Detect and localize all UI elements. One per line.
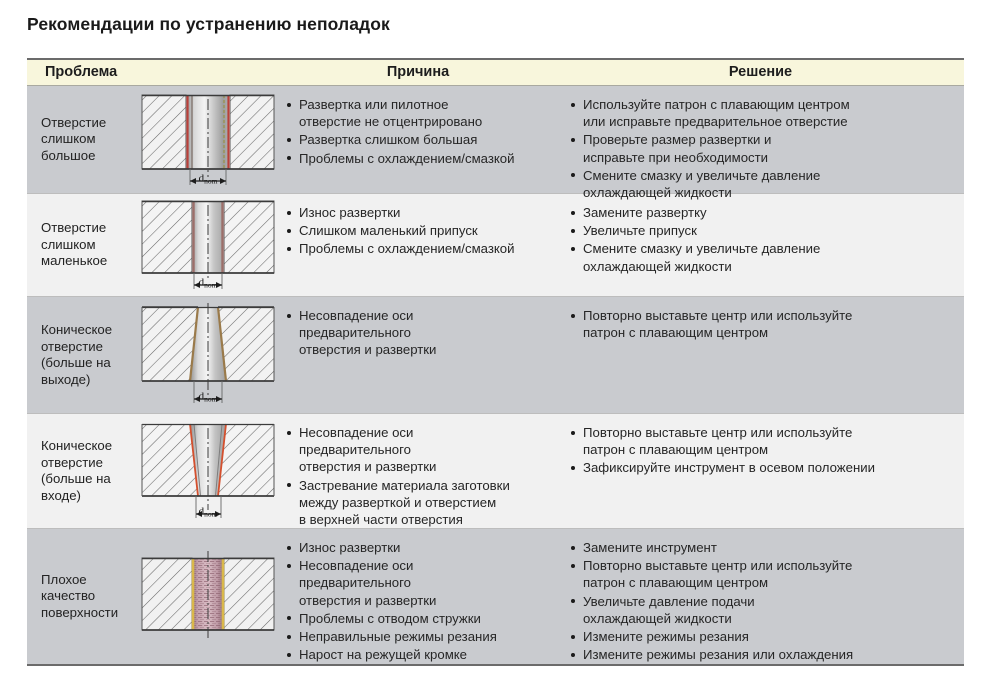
solution-list: Повторно выставьте центр или используйте… <box>569 307 956 341</box>
problem-cell: Коническое отверстие (больше на входе) <box>27 414 137 528</box>
list-item: Проверьте размер развертки иисправьте пр… <box>569 131 956 165</box>
cause-list: Износ развертки Слишком маленький припус… <box>285 204 551 258</box>
list-item: Развертка слишком большая <box>285 131 551 148</box>
solution-list: Замените развертку Увеличьте припуск Сме… <box>569 204 956 275</box>
cause-list: Износ развертки Несовпадение осипредвари… <box>285 539 551 663</box>
problem-label: Отверстие слишком маленькое <box>41 220 107 270</box>
problem-label: Коническое отверстие (больше на входе) <box>41 438 112 504</box>
problem-label: Плохое качество поверхности <box>41 572 118 622</box>
list-item: Износ развертки <box>285 539 551 556</box>
troubleshooting-table: Проблема Причина Решение Отверстие слишк… <box>27 58 964 666</box>
solution-cell: Замените инструмент Повторно выставьте ц… <box>557 529 964 664</box>
page-title: Рекомендации по устранению неполадок <box>27 14 390 35</box>
cause-cell: Износ развертки Несовпадение осипредвари… <box>279 529 557 664</box>
list-item: Измените режимы резания или охлаждения <box>569 646 956 663</box>
problem-cell: Отверстие слишком большое <box>27 86 137 193</box>
list-item: Нарост на режущей кромке <box>285 646 551 663</box>
list-item: Замените развертку <box>569 204 956 221</box>
column-header-problem: Проблема <box>27 60 279 85</box>
problem-label: Коническое отверстие (больше на выходе) <box>41 322 112 388</box>
undersize-hole-diagram: dnom <box>138 197 278 295</box>
cause-cell: Износ развертки Слишком маленький припус… <box>279 194 557 296</box>
list-item: Развертка или пилотноеотверстие не отцен… <box>285 96 551 130</box>
column-header-solution: Решение <box>557 60 964 85</box>
list-item: Увеличьте припуск <box>569 222 956 239</box>
figure-cell: dnom <box>137 194 279 296</box>
list-item: Застревание материала заготовкимежду раз… <box>285 477 551 529</box>
solution-list: Используйте патрон с плавающим центромил… <box>569 96 956 201</box>
table-row: Коническое отверстие (больше на выходе) <box>27 297 964 414</box>
list-item: Используйте патрон с плавающим центромил… <box>569 96 956 130</box>
problem-cell: Коническое отверстие (больше на выходе) <box>27 297 137 413</box>
table-row: Коническое отверстие (больше на входе) <box>27 414 964 529</box>
problem-label: Отверстие слишком большое <box>41 115 106 165</box>
list-item: Увеличьте давление подачиохлаждающей жид… <box>569 593 956 627</box>
cause-cell: Несовпадение осипредварительногоотверсти… <box>279 414 557 528</box>
list-item: Износ развертки <box>285 204 551 221</box>
list-item: Несовпадение осипредварительногоотверсти… <box>285 424 551 476</box>
list-item: Несовпадение осипредварительногоотверсти… <box>285 307 551 359</box>
figure-cell: dnom <box>137 414 279 528</box>
cause-list: Несовпадение осипредварительногоотверсти… <box>285 424 551 528</box>
table-row: Отверстие слишком маленькое <box>27 194 964 297</box>
list-item: Смените смазку и увеличьте давлениеохлаж… <box>569 240 956 274</box>
list-item: Проблемы с охлаждением/смазкой <box>285 240 551 257</box>
list-item: Зафиксируйте инструмент в осевом положен… <box>569 459 956 476</box>
taper-wide-at-entry-diagram: dnom <box>138 420 278 524</box>
solution-list: Повторно выставьте центр или используйте… <box>569 424 956 477</box>
cause-cell: Несовпадение осипредварительногоотверсти… <box>279 297 557 413</box>
table-row: Плохое качество поверхности <box>27 529 964 664</box>
column-header-cause: Причина <box>279 60 557 85</box>
poor-surface-finish-diagram <box>138 548 278 648</box>
dimension-label: dnom <box>199 277 218 290</box>
figure-cell: dnom <box>137 297 279 413</box>
oversize-hole-diagram: dnom <box>138 91 278 191</box>
cause-list: Развертка или пилотноеотверстие не отцен… <box>285 96 551 167</box>
solution-list: Замените инструмент Повторно выставьте ц… <box>569 539 956 663</box>
list-item: Проблемы с охлаждением/смазкой <box>285 150 551 167</box>
problem-cell: Отверстие слишком маленькое <box>27 194 137 296</box>
list-item: Смените смазку и увеличьте давлениеохлаж… <box>569 167 956 201</box>
list-item: Неправильные режимы резания <box>285 628 551 645</box>
cause-list: Несовпадение осипредварительногоотверсти… <box>285 307 551 359</box>
list-item: Повторно выставьте центр или используйте… <box>569 424 956 458</box>
cause-cell: Развертка или пилотноеотверстие не отцен… <box>279 86 557 193</box>
list-item: Несовпадение осипредварительногоотверсти… <box>285 557 551 609</box>
solution-cell: Повторно выставьте центр или используйте… <box>557 414 964 528</box>
list-item: Слишком маленький припуск <box>285 222 551 239</box>
list-item: Измените режимы резания <box>569 628 956 645</box>
list-item: Повторно выставьте центр или используйте… <box>569 307 956 341</box>
list-item: Проблемы с отводом стружки <box>285 610 551 627</box>
table-header-row: Проблема Причина Решение <box>27 60 964 86</box>
solution-cell: Замените развертку Увеличьте припуск Сме… <box>557 194 964 296</box>
table-row: Отверстие слишком большое <box>27 86 964 194</box>
dimension-label: dnom <box>199 172 218 185</box>
figure-cell <box>137 529 279 664</box>
solution-cell: Используйте патрон с плавающим центромил… <box>557 86 964 193</box>
problem-cell: Плохое качество поверхности <box>27 529 137 664</box>
list-item: Повторно выставьте центр или используйте… <box>569 557 956 591</box>
solution-cell: Повторно выставьте центр или используйте… <box>557 297 964 413</box>
taper-wide-at-exit-diagram: dnom <box>138 303 278 409</box>
figure-cell: dnom <box>137 86 279 193</box>
list-item: Замените инструмент <box>569 539 956 556</box>
dimension-label: dnom <box>199 391 218 404</box>
